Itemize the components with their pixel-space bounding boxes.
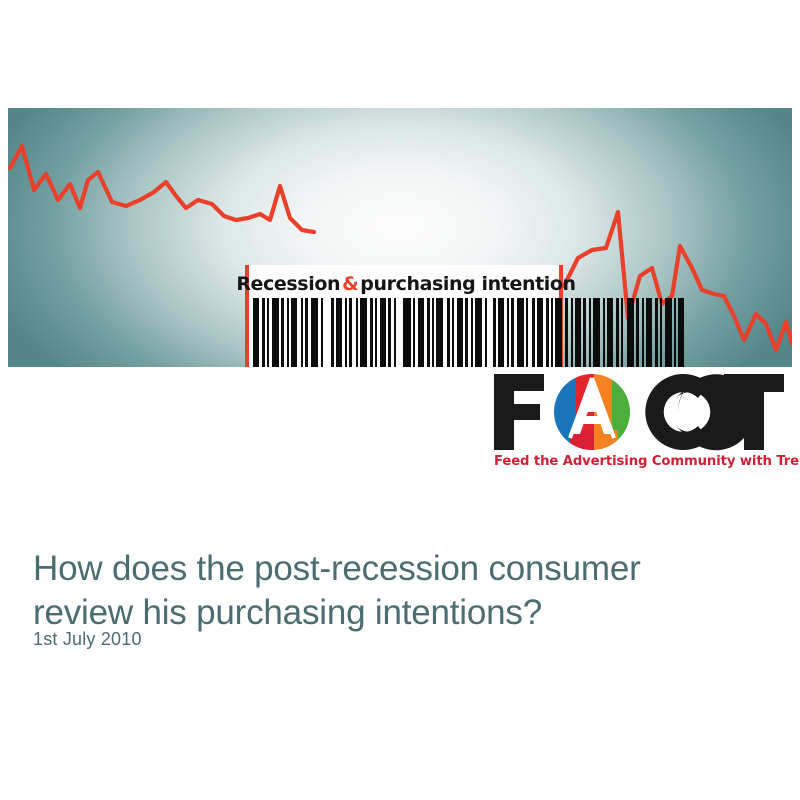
barcode-bar [272,298,279,367]
fact-logo-tagline: Feed the Advertising Community with Tren… [494,454,784,469]
barcode-bar [517,298,524,367]
barcode-label-prefix: Recession [236,273,340,295]
logo-colorwheel-a [554,374,632,452]
presentation-date: 1st July 2010 [33,629,142,650]
fact-logo: Feed the Advertising Community with Tren… [492,372,784,476]
barcode-bar [360,298,367,367]
page-title: How does the post-recession consumer rev… [33,547,753,635]
barcode-label-suffix: purchasing intention [360,273,575,295]
barcode-bar [684,298,687,367]
logo-letter-f [494,374,544,450]
logo-letter-c-shape [645,374,709,450]
page-title-line-1: How does the post-recession consumer [33,547,753,591]
barcode-bars [253,298,555,367]
barcode-bar [311,298,318,367]
barcode-bar [323,298,331,367]
barcode-bar [593,298,600,367]
fact-logo-mark [492,372,784,452]
barcode-bar [555,298,562,367]
line-series-left [10,146,314,232]
barcode-bar [665,298,672,367]
barcode-bar [396,298,403,367]
barcode-graphic: Recession & purchasing intention [245,265,563,367]
barcode-bar [475,298,482,367]
barcode-label-ampersand: & [340,273,360,295]
barcode-bar [403,298,411,367]
recession-banner: Recession & purchasing intention [8,108,792,367]
barcode-bar [436,298,443,367]
barcode-label: Recession & purchasing intention [263,270,549,298]
barcode-bar [627,298,634,367]
